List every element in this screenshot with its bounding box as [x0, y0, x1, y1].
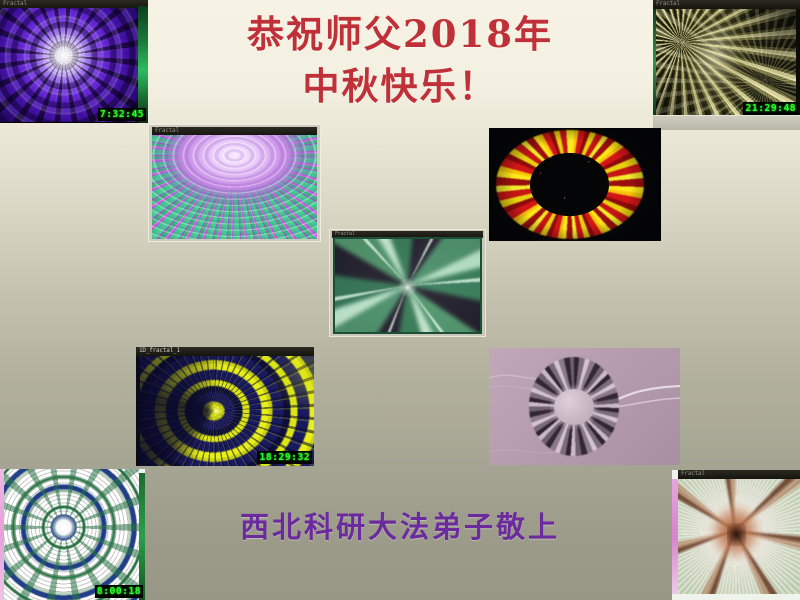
fractal-tile-blue-green-concentric-rings[interactable]: 8:00:18 — [0, 469, 145, 600]
window-titlebar: Fractal — [653, 0, 800, 9]
fractal-canvas — [333, 237, 482, 334]
fractal-tile-mauve-flower-disc[interactable] — [489, 348, 680, 465]
fractal-canvas — [489, 348, 680, 465]
window-chrome — [489, 128, 661, 241]
fractal-tile-red-yellow-torus[interactable] — [489, 128, 661, 241]
window-chrome: Fractal — [148, 124, 321, 242]
timestamp-badge: 8:00:18 — [95, 585, 143, 598]
window-chrome — [489, 348, 680, 465]
fractal-tile-teal-magenta-starburst[interactable]: Fractal — [148, 124, 321, 242]
fractal-layer-glow — [0, 8, 138, 122]
window-chrome: 1D_fractal_1 18:29:32 — [136, 347, 314, 466]
fractal-canvas — [140, 356, 314, 466]
fractal-layer-speckle — [152, 135, 317, 239]
fractal-tile-olive-swirl[interactable]: Fractal 21:29:48 — [653, 0, 800, 130]
window-title-label: Fractal — [681, 470, 705, 479]
fractal-tile-green-pinwheel[interactable]: Fractal — [329, 229, 486, 337]
timestamp-badge: 18:29:32 — [257, 451, 312, 464]
pink-edge-strip — [672, 479, 678, 594]
fractal-canvas — [489, 128, 661, 241]
window-chrome: Fractal 7:32:45 — [0, 0, 148, 123]
window-titlebar: 1D_fractal_1 — [136, 347, 314, 356]
window-title-label: Fractal — [656, 0, 680, 9]
fractal-layer-shading — [656, 9, 796, 116]
fractal-layer-core — [4, 469, 139, 600]
fractal-tile-purple-radial-burst[interactable]: Fractal 7:32:45 — [0, 0, 148, 123]
fractal-canvas — [678, 479, 800, 594]
fractal-layer-vignette — [489, 128, 661, 241]
pink-edge-strip — [0, 469, 4, 600]
green-edge-strip — [138, 6, 148, 123]
green-edge-strip — [139, 473, 145, 600]
timestamp-badge: 7:32:45 — [98, 108, 146, 121]
fractal-canvas — [4, 469, 139, 600]
timestamp-badge: 21:29:48 — [743, 102, 798, 115]
window-titlebar: Fractal — [678, 470, 800, 479]
window-chrome: Fractal — [672, 470, 800, 600]
window-chrome: 8:00:18 — [0, 469, 145, 600]
fractal-layer-dark-core — [727, 523, 747, 546]
window-chrome: Fractal 21:29:48 — [653, 0, 800, 130]
window-footer — [653, 115, 800, 130]
fractal-tile-rust-spider-fractal[interactable]: Fractal — [672, 470, 800, 600]
greeting-card-collage: Fractal 7:32:45 Fractal 21: — [0, 0, 800, 600]
fractal-tile-yellow-navy-spiral-eye[interactable]: 1D_fractal_1 18:29:32 — [136, 347, 314, 466]
fractal-layer-frame — [333, 237, 482, 334]
green-edge-strip — [653, 9, 656, 116]
fractal-canvas — [656, 9, 796, 116]
fractal-layer-core-glow — [140, 356, 314, 466]
window-title-label: 1D_fractal_1 — [139, 347, 180, 356]
fractal-canvas — [0, 8, 138, 122]
window-chrome: Fractal — [329, 229, 486, 337]
fractal-canvas — [152, 135, 317, 239]
fractal-layer-hub — [554, 389, 594, 425]
